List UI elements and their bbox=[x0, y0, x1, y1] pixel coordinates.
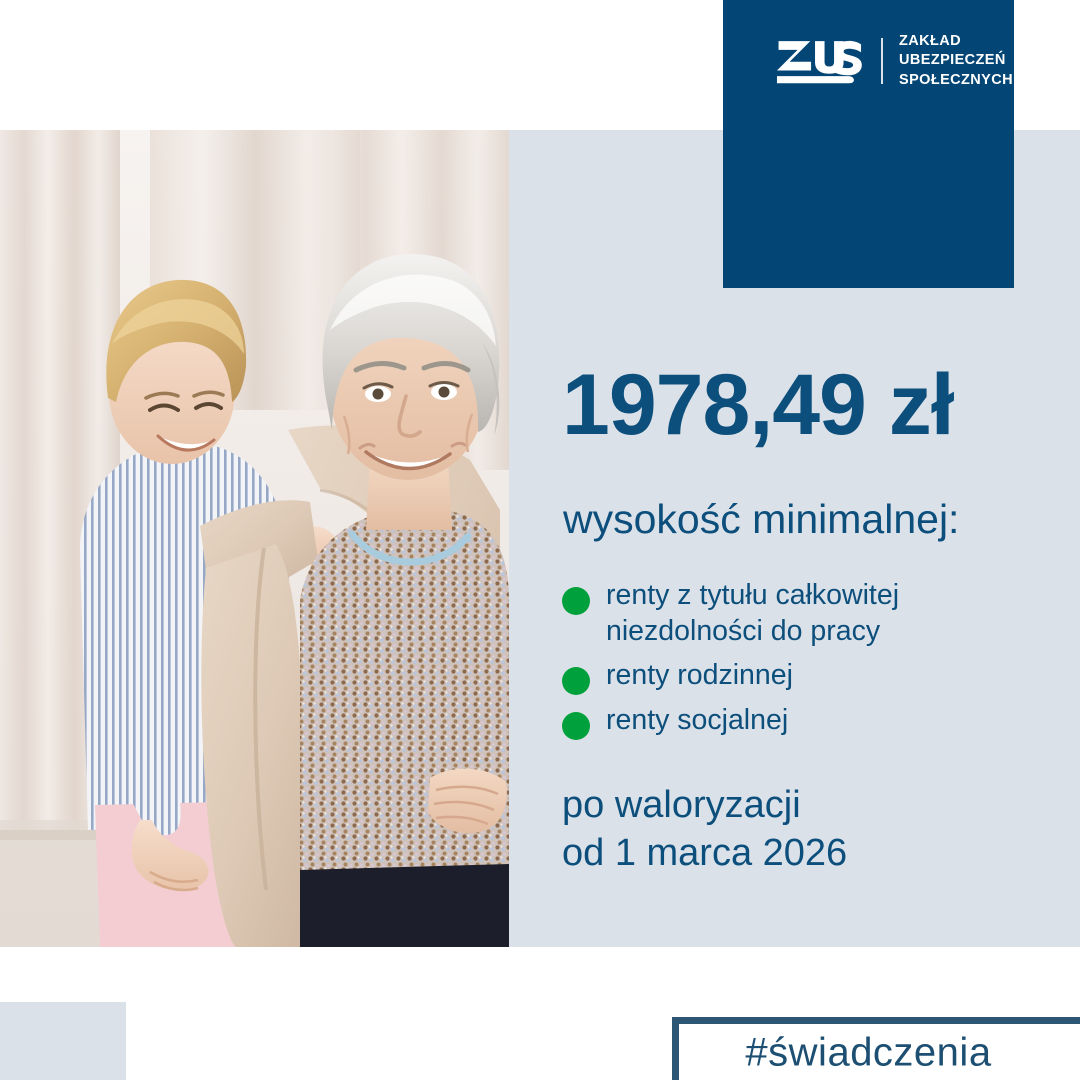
list-item: renty z tytułu całkowitej niezdolności d… bbox=[562, 578, 1032, 650]
zus-logo-block: ZAKŁAD UBEZPIECZEŃ SPOŁECZNYCH bbox=[723, 0, 1014, 288]
logo-divider bbox=[881, 38, 883, 84]
list-item-label: renty socjalnej bbox=[606, 703, 788, 739]
hashtag-bar: #świadczenia bbox=[672, 1017, 1080, 1080]
bullet-dot-icon bbox=[562, 667, 590, 695]
list-item-label: renty rodzinnej bbox=[606, 658, 793, 694]
amount-headline: 1978,49 zł bbox=[562, 362, 954, 448]
caregiver-and-senior-woman-photo bbox=[0, 130, 509, 947]
poster-canvas: ZAKŁAD UBEZPIECZEŃ SPOŁECZNYCH 1978,49 z… bbox=[0, 0, 1080, 1080]
zus-logo-wordmark: ZAKŁAD UBEZPIECZEŃ SPOŁECZNYCH bbox=[899, 32, 1013, 90]
zus-logo-icon bbox=[775, 38, 863, 84]
benefit-list: renty z tytułu całkowitej niezdolności d… bbox=[562, 578, 1032, 748]
valorisation-date-note: po waloryzacji od 1 marca 2026 bbox=[562, 782, 847, 878]
bullet-dot-icon bbox=[562, 712, 590, 740]
hashtag-label: #świadczenia bbox=[679, 1030, 1080, 1075]
list-item-label: renty z tytułu całkowitej niezdolności d… bbox=[606, 578, 1032, 650]
bullet-dot-icon bbox=[562, 587, 590, 615]
photo-illustration bbox=[0, 130, 509, 947]
zus-logo-lockup: ZAKŁAD UBEZPIECZEŃ SPOŁECZNYCH bbox=[775, 32, 1013, 90]
list-item: renty socjalnej bbox=[562, 703, 1032, 740]
subheading: wysokość minimalnej: bbox=[563, 497, 959, 542]
corner-accent-square bbox=[0, 1002, 126, 1080]
list-item: renty rodzinnej bbox=[562, 658, 1032, 695]
